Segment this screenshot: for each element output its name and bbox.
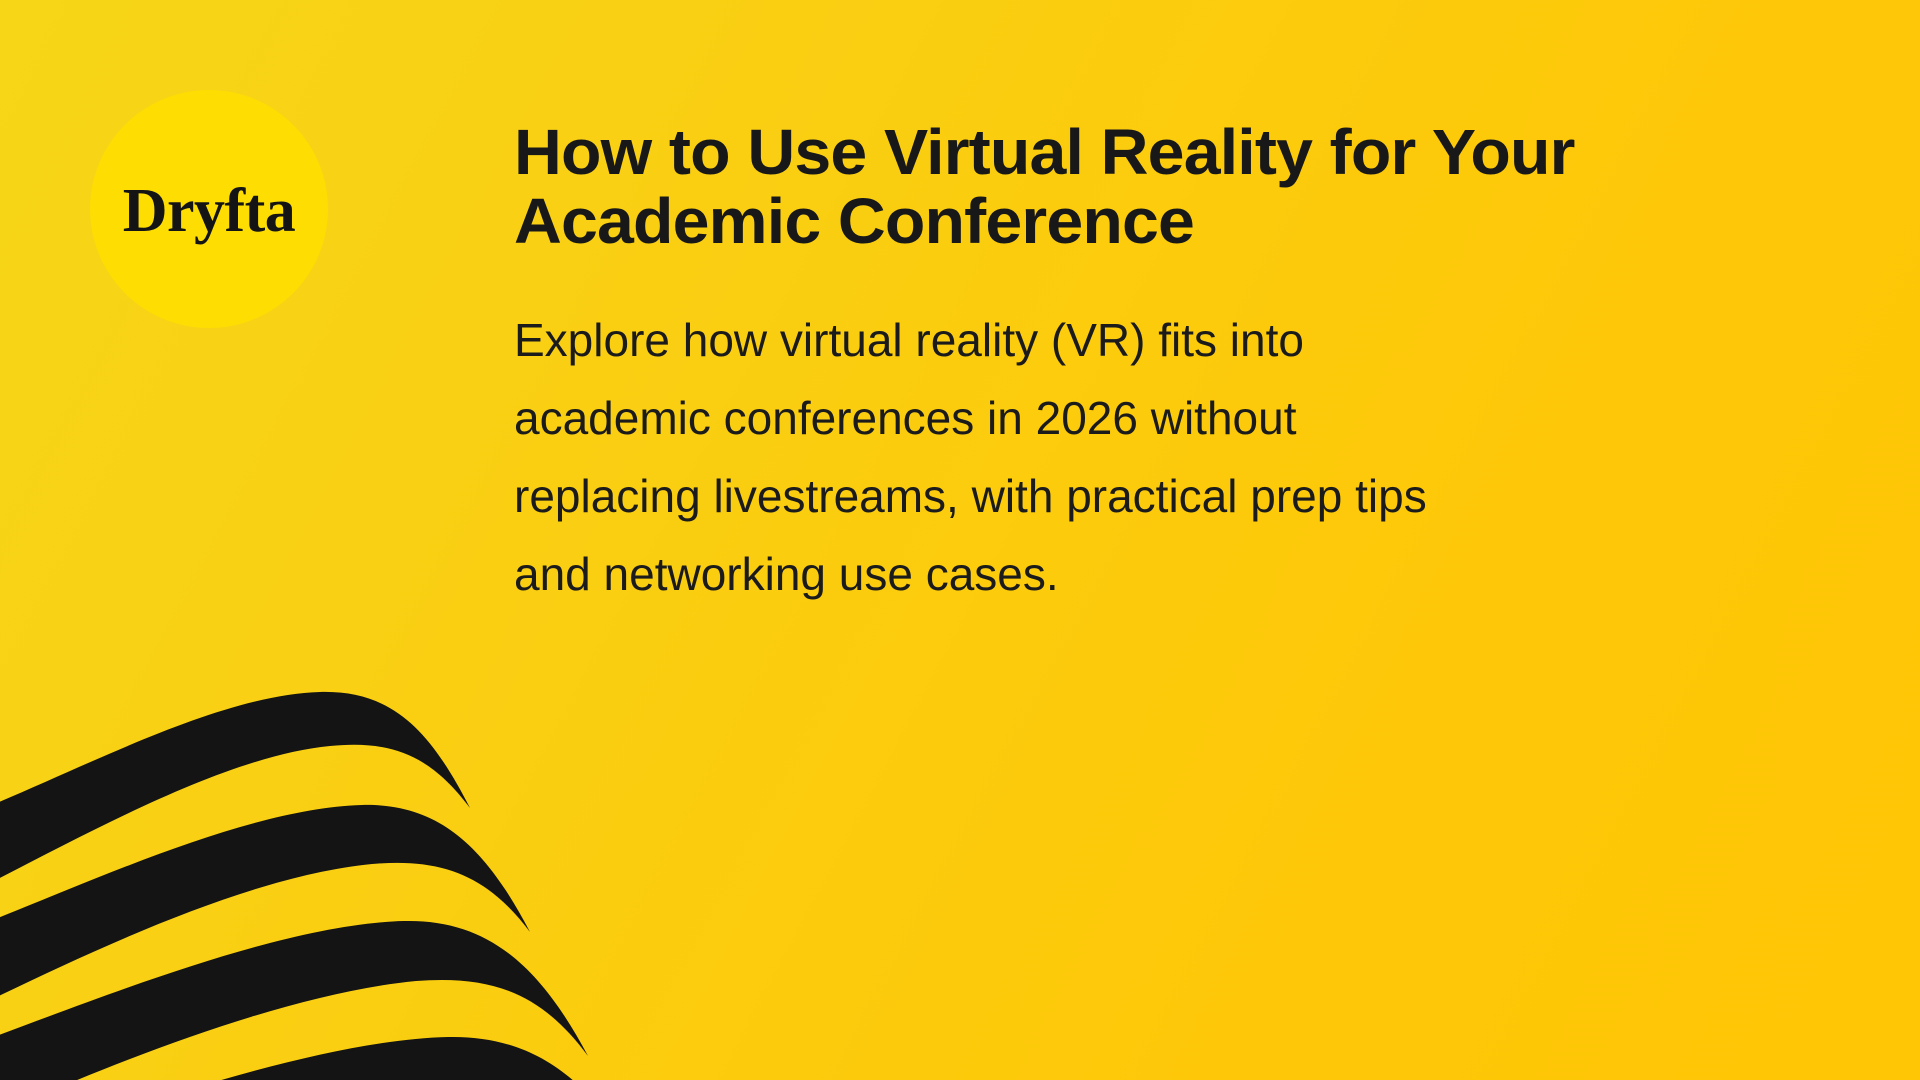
dryfta-logo-wordmark: Dryfta [123,180,296,242]
banner-content: How to Use Virtual Reality for Your Acad… [514,118,1804,613]
subhead-line-4: and networking use cases. [514,535,1694,613]
subhead-line-3: replacing livestreams, with practical pr… [514,457,1694,535]
wave-band-2 [0,805,530,1005]
blog-banner: Dryfta How to Use Virtual Reality for Yo… [0,0,1920,1080]
wave-band-1 [0,692,470,888]
banner-subhead: Explore how virtual reality (VR) fits in… [514,301,1694,613]
wave-band-3 [0,921,588,1080]
dryfta-logo-badge[interactable]: Dryfta [90,90,328,328]
banner-headline: How to Use Virtual Reality for Your Acad… [514,118,1808,256]
subhead-line-1: Explore how virtual reality (VR) fits in… [514,301,1694,379]
subhead-line-2: academic conferences in 2026 without [514,379,1694,457]
wave-stripes-svg [0,580,760,1080]
wave-stripes-decoration [0,580,760,1080]
wave-band-4 [0,1037,650,1080]
headline-line-1: How to Use Virtual Reality for [514,116,1416,188]
